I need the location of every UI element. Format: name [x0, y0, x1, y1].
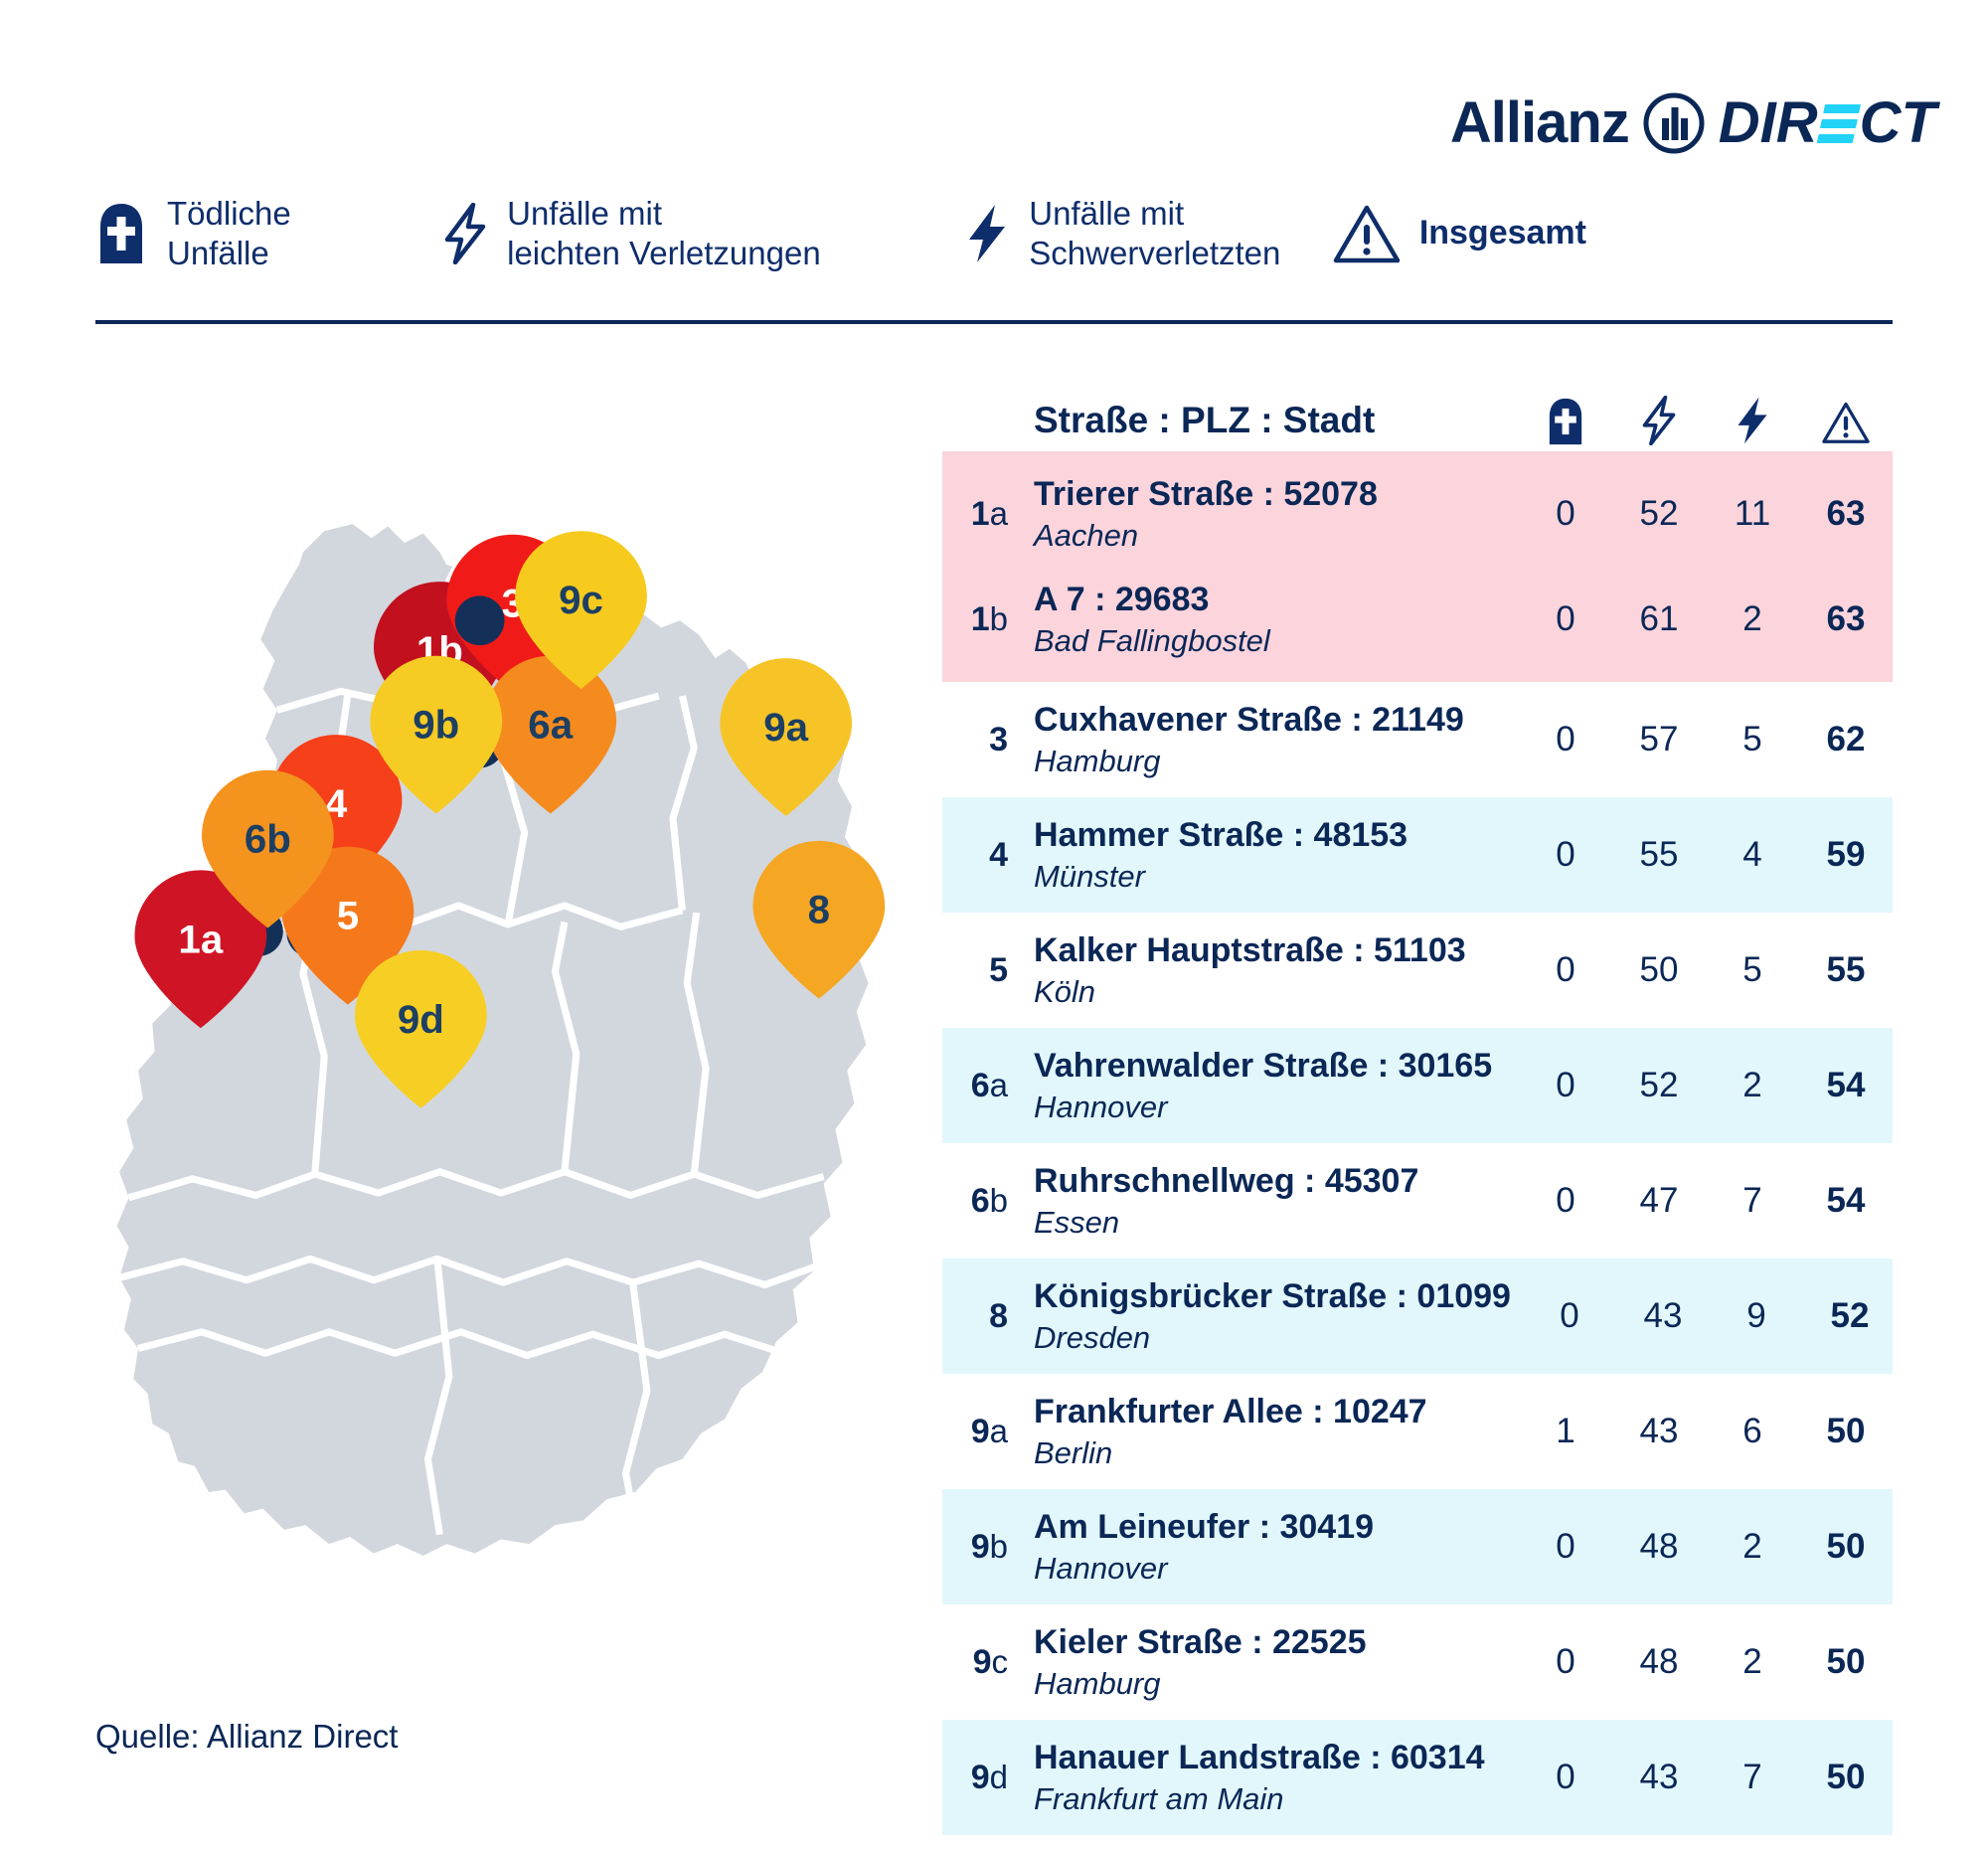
row-rank-suffix: a: [990, 495, 1008, 532]
logo-allianz-wordmark: Allianz: [1450, 94, 1629, 152]
row-city: Berlin: [1034, 1434, 1507, 1471]
row-value-severe: 9: [1710, 1296, 1803, 1336]
row-value-fatal: 0: [1519, 1181, 1612, 1221]
table-row: 4Hammer Straße : 48153Münster055459: [942, 797, 1893, 913]
row-value-severe: 2: [1706, 1527, 1799, 1567]
row-location: Hanauer Landstraße : 60314Frankfurt am M…: [1034, 1738, 1519, 1817]
row-city: Bad Fallingbostel: [1034, 622, 1507, 659]
bolt-outline-icon: [443, 203, 487, 264]
row-value-severe: 2: [1706, 1066, 1799, 1105]
row-rank: 6a: [942, 1067, 1034, 1105]
row-value-light: 43: [1612, 1412, 1706, 1451]
bolt-filled-icon: [965, 203, 1009, 264]
row-value-light: 50: [1612, 950, 1706, 990]
legend-label-total: Insgesamt: [1419, 213, 1586, 253]
row-city: Münster: [1034, 858, 1507, 895]
row-rank: 1a: [942, 495, 1034, 534]
row-rank-suffix: c: [992, 1643, 1009, 1680]
row-street: Hammer Straße : 48153: [1034, 815, 1507, 855]
row-value-fatal: 0: [1519, 1527, 1612, 1567]
row-value-fatal: 0: [1523, 1296, 1616, 1336]
accident-hotspot-table: Straße : PLZ : Stadt: [942, 360, 1893, 1835]
row-value-severe: 11: [1706, 494, 1799, 534]
row-value-light: 48: [1612, 1642, 1706, 1682]
table-row: 9cKieler Straße : 22525Hamburg048250: [942, 1604, 1893, 1720]
pin-label: 6b: [245, 817, 291, 862]
row-rank-number: 9: [971, 1759, 990, 1796]
row-value-light: 43: [1616, 1296, 1710, 1336]
row-street: Kieler Straße : 22525: [1034, 1622, 1507, 1662]
row-rank-suffix: b: [990, 600, 1008, 637]
row-value-total: 62: [1799, 720, 1893, 759]
row-location: Trierer Straße : 52078Aachen: [1034, 474, 1519, 554]
row-value-severe: 5: [1706, 720, 1799, 759]
pin-label: 8: [808, 888, 830, 932]
row-street: Vahrenwalder Straße : 30165: [1034, 1046, 1507, 1086]
row-value-total: 59: [1799, 835, 1893, 875]
row-rank: 6b: [942, 1182, 1034, 1221]
row-rank: 3: [942, 721, 1034, 759]
germany-map-svg: 1a1b3456a6b89a9b9c9d: [70, 517, 895, 1600]
row-rank-number: 8: [989, 1297, 1008, 1335]
table-row: 5Kalker Hauptstraße : 51103Köln050555: [942, 913, 1893, 1028]
row-value-total: 54: [1799, 1066, 1893, 1105]
table-row: 1bA 7 : 29683Bad Fallingbostel061263: [942, 567, 1893, 682]
row-rank-suffix: a: [990, 1413, 1008, 1449]
header-col-fatal: [1519, 398, 1612, 445]
row-street: Am Leineufer : 30419: [1034, 1507, 1507, 1547]
header-col-severe: [1706, 396, 1799, 445]
logo-direct-wordmark: DIR CT: [1719, 94, 1936, 152]
row-rank-number: 6: [971, 1182, 990, 1220]
bolt-outline-icon: [1641, 396, 1677, 445]
row-rank-suffix: d: [990, 1759, 1008, 1795]
row-location: Kieler Straße : 22525Hamburg: [1034, 1622, 1519, 1702]
warning-triangle-icon: [1332, 203, 1402, 264]
row-value-fatal: 1: [1519, 1412, 1612, 1451]
row-value-fatal: 0: [1519, 1758, 1612, 1797]
row-rank-number: 9: [971, 1528, 990, 1566]
row-value-severe: 2: [1706, 1642, 1799, 1682]
bolt-filled-icon: [1735, 396, 1770, 445]
row-street: Kalker Hauptstraße : 51103: [1034, 930, 1507, 970]
pin-label: 9d: [398, 997, 444, 1042]
row-city: Frankfurt am Main: [1034, 1780, 1507, 1817]
row-rank: 1b: [942, 600, 1034, 639]
row-value-light: 47: [1612, 1181, 1706, 1221]
row-rank-number: 6: [971, 1067, 990, 1104]
row-location: Vahrenwalder Straße : 30165Hannover: [1034, 1046, 1519, 1125]
map-anchor-dot: [455, 595, 505, 645]
row-city: Hamburg: [1034, 743, 1507, 779]
row-location: Frankfurter Allee : 10247Berlin: [1034, 1392, 1519, 1471]
table-row: 9aFrankfurter Allee : 10247Berlin143650: [942, 1374, 1893, 1489]
row-rank-number: 9: [971, 1413, 990, 1450]
row-rank-suffix: a: [990, 1067, 1008, 1103]
row-street: Trierer Straße : 52078: [1034, 474, 1507, 514]
row-rank-number: 1: [971, 495, 990, 533]
pin-label: 9c: [559, 578, 603, 622]
row-rank-number: 3: [989, 721, 1008, 758]
row-rank-number: 5: [989, 951, 1008, 989]
row-city: Essen: [1034, 1204, 1507, 1241]
legend-item-total: Insgesamt: [1332, 203, 1586, 264]
row-value-fatal: 0: [1519, 720, 1612, 759]
row-location: Ruhrschnellweg : 45307Essen: [1034, 1161, 1519, 1241]
row-value-light: 57: [1612, 720, 1706, 759]
row-location: Cuxhavener Straße : 21149Hamburg: [1034, 700, 1519, 779]
table-header-row: Straße : PLZ : Stadt: [942, 360, 1893, 451]
table-row: 9dHanauer Landstraße : 60314Frankfurt am…: [942, 1720, 1893, 1835]
row-value-severe: 7: [1706, 1181, 1799, 1221]
row-value-total: 63: [1799, 494, 1893, 534]
row-value-fatal: 0: [1519, 494, 1612, 534]
germany-map: 1a1b3456a6b89a9b9c9d: [70, 517, 895, 1600]
row-location: Kalker Hauptstraße : 51103Köln: [1034, 930, 1519, 1010]
row-value-severe: 5: [1706, 950, 1799, 990]
row-street: Hanauer Landstraße : 60314: [1034, 1738, 1507, 1777]
pin-label: 1a: [178, 917, 223, 961]
pin-label: 5: [337, 894, 359, 938]
row-value-light: 48: [1612, 1527, 1706, 1567]
row-value-light: 52: [1612, 494, 1706, 534]
legend-label-fatal: Tödliche Unfälle: [167, 194, 291, 274]
row-rank: 9a: [942, 1413, 1034, 1451]
pin-label: 9b: [413, 703, 459, 748]
logo-direct-e-bars-icon: [1816, 101, 1861, 145]
row-city: Hamburg: [1034, 1665, 1507, 1702]
header-divider: [95, 320, 1893, 324]
table-row: 9bAm Leineufer : 30419Hannover048250: [942, 1489, 1893, 1604]
row-rank: 9d: [942, 1759, 1034, 1797]
table-body: 1aTrierer Straße : 52078Aachen05211631bA…: [942, 451, 1893, 1835]
row-rank: 9c: [942, 1643, 1034, 1682]
row-value-severe: 2: [1706, 599, 1799, 639]
logo-direct-post: CT: [1860, 94, 1936, 152]
warning-triangle-icon: [1821, 400, 1871, 445]
row-location: Hammer Straße : 48153Münster: [1034, 815, 1519, 895]
row-city: Hannover: [1034, 1089, 1507, 1125]
row-street: Königsbrücker Straße : 01099: [1034, 1276, 1511, 1316]
row-value-total: 52: [1803, 1296, 1897, 1336]
row-street: A 7 : 29683: [1034, 580, 1507, 619]
pin-label: 6a: [528, 703, 573, 748]
pin-label: 9a: [763, 705, 808, 750]
row-value-fatal: 0: [1519, 950, 1612, 990]
legend-label-severe-injury: Unfälle mit Schwerverletzten: [1029, 194, 1280, 274]
row-value-light: 52: [1612, 1066, 1706, 1105]
row-value-light: 43: [1612, 1758, 1706, 1797]
row-city: Köln: [1034, 973, 1507, 1010]
row-value-light: 61: [1612, 599, 1706, 639]
row-location: Königsbrücker Straße : 01099Dresden: [1034, 1276, 1523, 1356]
row-street: Ruhrschnellweg : 45307: [1034, 1161, 1507, 1201]
row-city: Hannover: [1034, 1550, 1507, 1587]
row-value-total: 50: [1799, 1527, 1893, 1567]
legend-item-fatal: Tödliche Unfälle: [95, 194, 443, 274]
gravestone-icon: [95, 203, 147, 264]
row-rank-suffix: b: [990, 1182, 1008, 1219]
row-street: Cuxhavener Straße : 21149: [1034, 700, 1507, 740]
row-value-light: 55: [1612, 835, 1706, 875]
row-value-total: 50: [1799, 1758, 1893, 1797]
row-value-total: 55: [1799, 950, 1893, 990]
row-value-total: 50: [1799, 1412, 1893, 1451]
row-value-severe: 4: [1706, 835, 1799, 875]
header-col-light: [1612, 396, 1706, 445]
legend-item-severe-injury: Unfälle mit Schwerverletzten: [965, 194, 1332, 274]
row-location: Am Leineufer : 30419Hannover: [1034, 1507, 1519, 1587]
table-row: 1aTrierer Straße : 52078Aachen0521163: [942, 451, 1893, 567]
row-value-total: 50: [1799, 1642, 1893, 1682]
row-value-total: 54: [1799, 1181, 1893, 1221]
row-value-fatal: 0: [1519, 835, 1612, 875]
row-location: A 7 : 29683Bad Fallingbostel: [1034, 580, 1519, 659]
row-value-severe: 6: [1706, 1412, 1799, 1451]
row-value-total: 63: [1799, 599, 1893, 639]
header-col-total: [1799, 400, 1893, 445]
logo-direct-pre: DIR: [1719, 94, 1818, 152]
row-value-fatal: 0: [1519, 1642, 1612, 1682]
allianz-direct-logo: Allianz DIR CT: [1450, 87, 1936, 159]
source-note: Quelle: Allianz Direct: [95, 1718, 398, 1756]
row-city: Aachen: [1034, 517, 1507, 554]
row-rank-number: 1: [971, 600, 990, 638]
row-rank-number: 9: [973, 1643, 992, 1681]
row-rank-suffix: b: [990, 1528, 1008, 1565]
table-row: 8Königsbrücker Straße : 01099Dresden0439…: [942, 1259, 1893, 1374]
legend: Tödliche Unfälle Unfälle mit leichten Ve…: [95, 179, 1586, 288]
row-rank-number: 4: [989, 836, 1008, 874]
row-value-fatal: 0: [1519, 1066, 1612, 1105]
row-rank: 4: [942, 836, 1034, 875]
table-row: 3Cuxhavener Straße : 21149Hamburg057562: [942, 682, 1893, 797]
gravestone-icon: [1546, 398, 1585, 445]
infographic-root: Allianz DIR CT Tödliche Unfälle: [0, 0, 1988, 1849]
legend-item-light-injury: Unfälle mit leichten Verletzungen: [443, 194, 965, 274]
row-value-severe: 7: [1706, 1758, 1799, 1797]
row-rank: 9b: [942, 1528, 1034, 1567]
row-value-fatal: 0: [1519, 599, 1612, 639]
allianz-circle-bars-icon: [1643, 92, 1705, 154]
table-row: 6aVahrenwalder Straße : 30165Hannover052…: [942, 1028, 1893, 1143]
row-city: Dresden: [1034, 1319, 1511, 1356]
row-street: Frankfurter Allee : 10247: [1034, 1392, 1507, 1431]
row-rank: 8: [942, 1297, 1034, 1336]
header-street-label: Straße : PLZ : Stadt: [1034, 400, 1519, 445]
row-rank: 5: [942, 951, 1034, 990]
legend-label-light-injury: Unfälle mit leichten Verletzungen: [507, 194, 821, 274]
table-row: 6bRuhrschnellweg : 45307Essen047754: [942, 1143, 1893, 1259]
